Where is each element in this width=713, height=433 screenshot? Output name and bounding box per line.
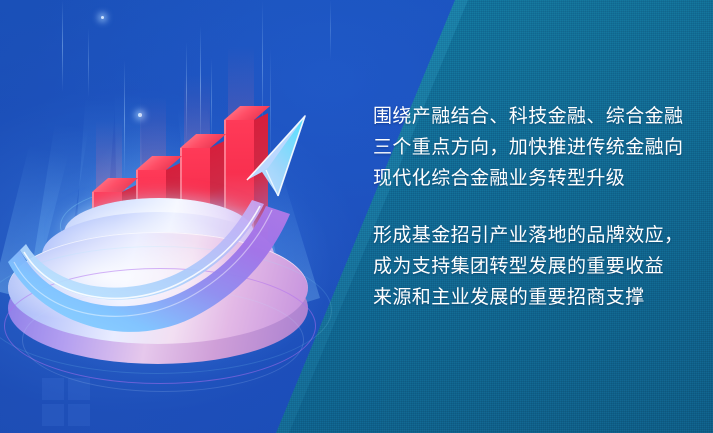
- paragraph-1-line-3: 现代化综合金融业务转型升级: [373, 163, 693, 194]
- hero-illustration: [0, 0, 340, 433]
- copy-block: 围绕产融结合、科技金融、综合金融 三个重点方向，加快推进传统金融向 现代化综合金…: [373, 101, 693, 313]
- paragraph-1-line-1: 围绕产融结合、科技金融、综合金融: [373, 101, 693, 132]
- paragraph-2-line-3: 来源和主业发展的重要招商支撑: [373, 282, 693, 313]
- paragraph-2-line-2: 成为支持集团转型发展的重要收益: [373, 251, 693, 282]
- paragraph-1: 围绕产融结合、科技金融、综合金融 三个重点方向，加快推进传统金融向 现代化综合金…: [373, 101, 693, 194]
- banner-canvas: 围绕产融结合、科技金融、综合金融 三个重点方向，加快推进传统金融向 现代化综合金…: [0, 0, 713, 433]
- paragraph-2-line-1: 形成基金招引产业落地的品牌效应，: [373, 220, 693, 251]
- paragraph-1-line-2: 三个重点方向，加快推进传统金融向: [373, 132, 693, 163]
- paragraph-2: 形成基金招引产业落地的品牌效应， 成为支持集团转型发展的重要收益 来源和主业发展…: [373, 220, 693, 313]
